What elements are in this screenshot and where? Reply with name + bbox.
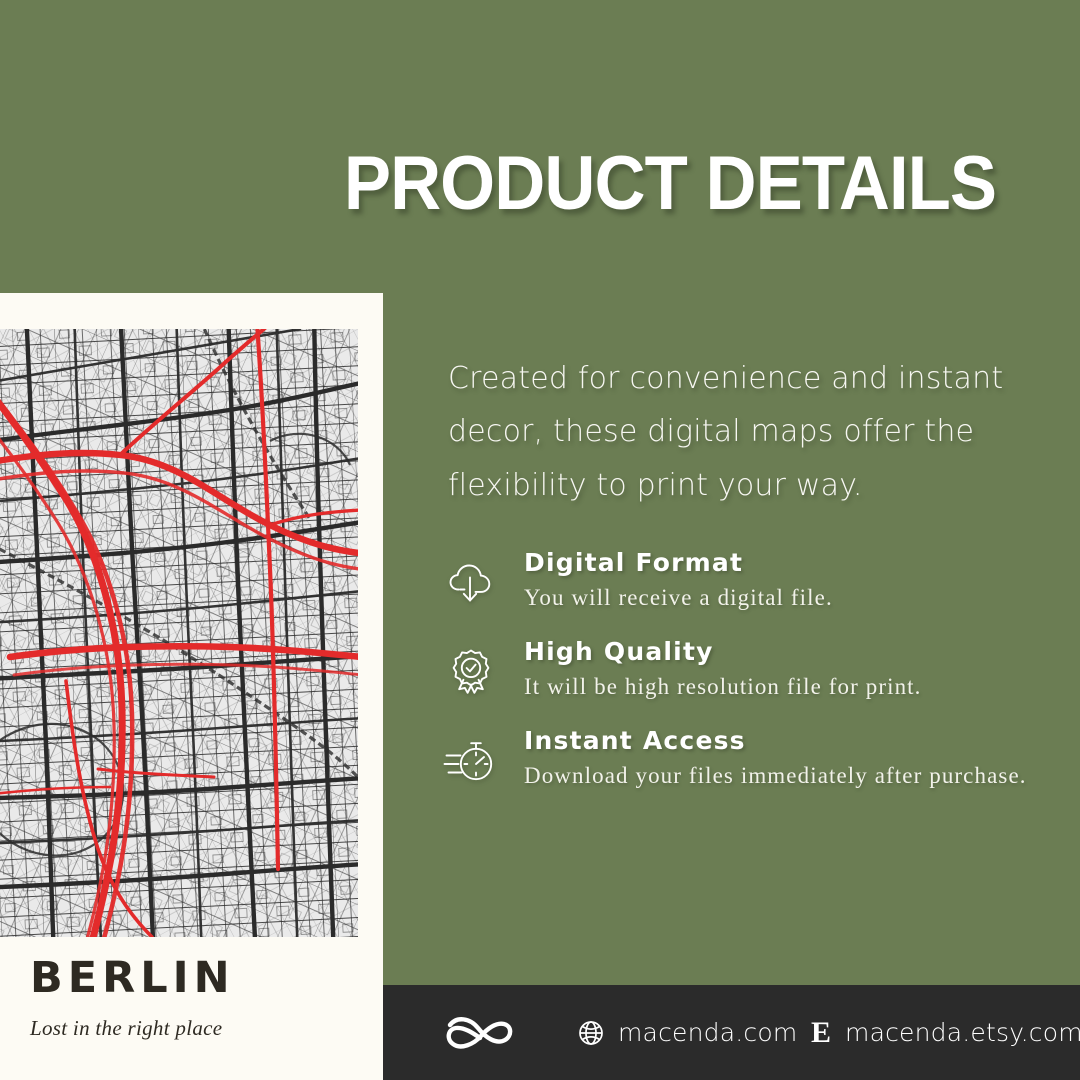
feature-description: It will be high resolution file for prin… — [524, 673, 1060, 702]
feature-item-instant-access: Instant Access Download your files immed… — [440, 726, 1060, 808]
feature-heading: High Quality — [524, 637, 1060, 667]
feature-text: High Quality It will be high resolution … — [524, 637, 1060, 702]
intro-paragraph: Created for convenience and instant deco… — [448, 352, 1018, 512]
cloud-download-icon — [440, 552, 502, 614]
footer-bar: macenda.com E macenda.etsy.com — [383, 985, 1080, 1080]
macenda-infinity-logo — [443, 1010, 515, 1056]
poster-card: BERLIN Lost in the right place — [0, 293, 383, 1080]
globe-icon — [576, 1018, 606, 1048]
berlin-street-map — [0, 329, 358, 937]
footer-etsy-label: macenda.etsy.com — [845, 1018, 1080, 1047]
feature-heading: Instant Access — [524, 726, 1060, 756]
feature-heading: Digital Format — [524, 548, 1060, 578]
etsy-e-icon: E — [811, 1018, 831, 1048]
feature-item-high-quality: High Quality It will be high resolution … — [440, 637, 1060, 719]
feature-list: Digital Format You will receive a digita… — [440, 548, 1060, 815]
quality-badge-icon — [440, 641, 502, 703]
poster-city-name: BERLIN — [30, 957, 360, 1000]
footer-link-website[interactable]: macenda.com — [576, 1018, 797, 1048]
feature-text: Digital Format You will receive a digita… — [524, 548, 1060, 613]
feature-description: You will receive a digital file. — [524, 584, 1060, 613]
poster-tagline: Lost in the right place — [30, 1016, 360, 1041]
footer-website-label: macenda.com — [618, 1018, 797, 1047]
page-title: PRODUCT DETAILS — [326, 146, 1014, 222]
feature-description: Download your files immediately after pu… — [524, 762, 1060, 791]
stopwatch-speed-icon — [440, 730, 502, 792]
poster-canvas: PRODUCT DETAILS Created for convenience … — [0, 0, 1080, 1080]
feature-item-digital-format: Digital Format You will receive a digita… — [440, 548, 1060, 630]
feature-text: Instant Access Download your files immed… — [524, 726, 1060, 791]
footer-link-etsy[interactable]: E macenda.etsy.com — [811, 1018, 1080, 1048]
poster-caption: BERLIN Lost in the right place — [30, 957, 360, 1041]
